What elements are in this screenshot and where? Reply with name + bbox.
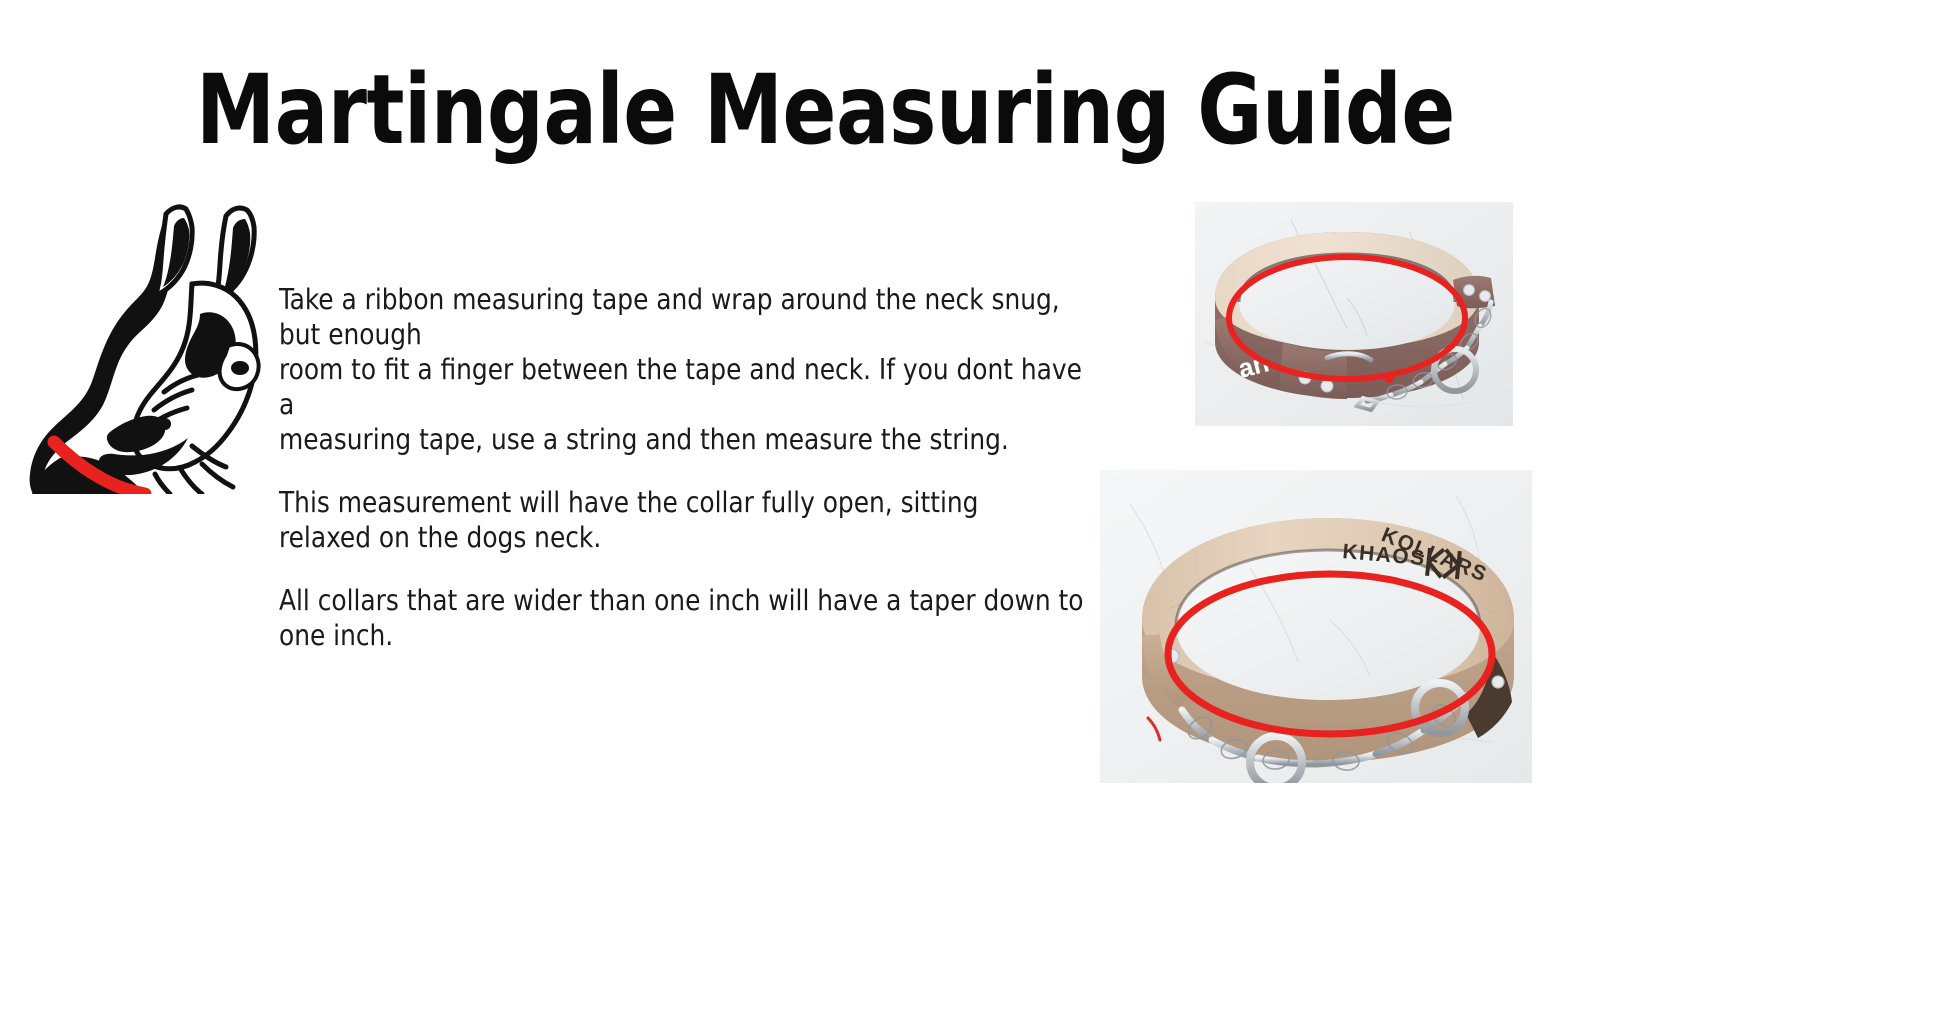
paragraph-2-line-2: relaxed on the dogs neck. bbox=[279, 520, 1084, 555]
rivet bbox=[1492, 676, 1504, 688]
collar-photo-top: an bbox=[1195, 202, 1513, 426]
paragraph-gap-1 bbox=[279, 457, 1084, 485]
paragraph-3-line-1: All collars that are wider than one inch… bbox=[279, 583, 1084, 653]
paragraph-1-line-2: room to fit a finger between the tape an… bbox=[279, 352, 1084, 422]
paragraph-1-line-3: measuring tape, use a string and then me… bbox=[279, 422, 1084, 457]
rivet bbox=[1464, 285, 1475, 296]
measurement-marker-dot bbox=[1384, 373, 1394, 383]
collar-photo-bottom: KHAOS KOLLARS bbox=[1100, 470, 1532, 783]
instructions-block: Take a ribbon measuring tape and wrap ar… bbox=[279, 282, 1084, 653]
page-title: Martingale Measuring Guide bbox=[196, 62, 1410, 158]
paragraph-1-line-1: Take a ribbon measuring tape and wrap ar… bbox=[279, 282, 1084, 352]
paragraph-gap-2 bbox=[279, 555, 1084, 583]
rivet bbox=[1480, 291, 1491, 302]
paragraph-2-line-1: This measurement will have the collar fu… bbox=[279, 485, 1084, 520]
rivet bbox=[1321, 380, 1333, 392]
german-shepherd-head-logo bbox=[14, 196, 272, 494]
